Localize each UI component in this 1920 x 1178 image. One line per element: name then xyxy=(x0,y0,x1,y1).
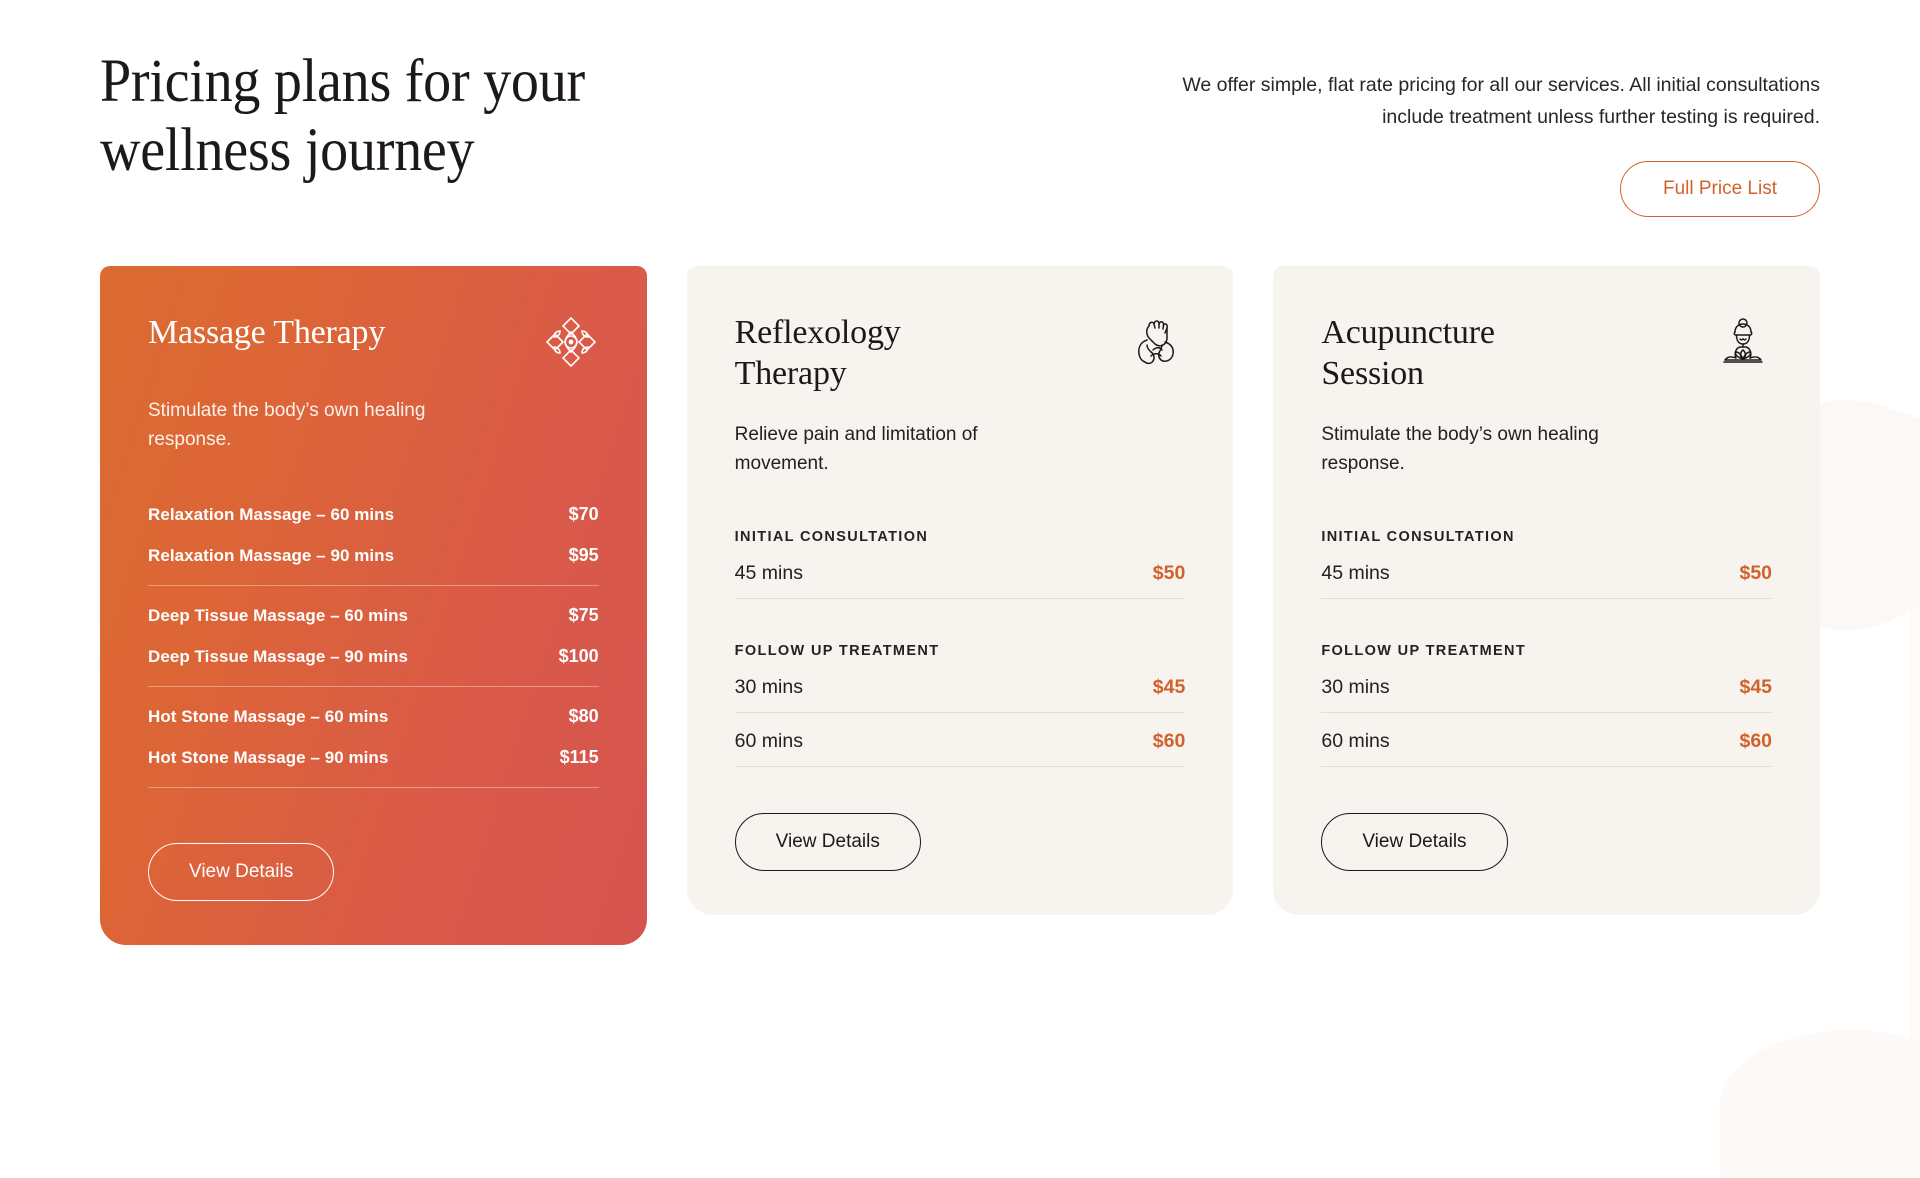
card-header: Massage Therapy xyxy=(148,312,599,370)
price-row-name: Deep Tissue Massage – 60 mins xyxy=(148,606,408,626)
pricing-card-reflexology-therapy[interactable]: Reflexology Therapy xyxy=(687,266,1234,915)
card-description: Relieve pain and limitation of movement. xyxy=(735,421,1025,479)
price-list: Relaxation Massage – 60 mins $70 Relaxat… xyxy=(148,494,599,797)
price-row: Relaxation Massage – 90 mins $95 xyxy=(148,535,599,576)
price-section: INITIAL CONSULTATION 45 mins $50 xyxy=(1321,529,1772,599)
price-row: 45 mins $50 xyxy=(735,545,1186,599)
price-row: Deep Tissue Massage – 60 mins $75 xyxy=(148,595,599,636)
card-cta-wrapper: View Details xyxy=(148,797,599,901)
section-label: INITIAL CONSULTATION xyxy=(1321,529,1772,545)
view-details-button[interactable]: View Details xyxy=(735,813,921,871)
price-section: INITIAL CONSULTATION 45 mins $50 xyxy=(735,529,1186,599)
price-row: Deep Tissue Massage – 90 mins $100 xyxy=(148,636,599,677)
price-row: Hot Stone Massage – 60 mins $80 xyxy=(148,696,599,737)
meditating-person-lotus-icon xyxy=(1714,314,1772,372)
card-title: Reflexology Therapy xyxy=(735,312,975,394)
price-row-value: $60 xyxy=(1739,730,1772,753)
price-row-value: $60 xyxy=(1153,730,1186,753)
decorative-shape-arch xyxy=(1720,1030,1920,1178)
pricing-card-massage-therapy[interactable]: Massage Therapy xyxy=(100,266,647,945)
price-row-name: 60 mins xyxy=(1321,730,1389,753)
price-row-name: 60 mins xyxy=(735,730,803,753)
price-sections: INITIAL CONSULTATION 45 mins $50 FOLLOW … xyxy=(735,529,1186,767)
page-title-line-2: wellness journey xyxy=(100,117,474,184)
price-row-name: 30 mins xyxy=(735,676,803,699)
price-row-value: $75 xyxy=(569,605,599,626)
price-row-value: $70 xyxy=(569,504,599,525)
card-header: Reflexology Therapy xyxy=(735,312,1186,394)
price-row: Relaxation Massage – 60 mins $70 xyxy=(148,494,599,535)
header-right-block: We offer simple, flat rate pricing for a… xyxy=(1120,48,1820,217)
price-row-name: 30 mins xyxy=(1321,676,1389,699)
price-row: 60 mins $60 xyxy=(735,713,1186,767)
card-description: Stimulate the body’s own healing respons… xyxy=(148,397,438,455)
view-details-button[interactable]: View Details xyxy=(1321,813,1507,871)
price-row-value: $50 xyxy=(1739,562,1772,585)
lotus-mandala-icon xyxy=(543,314,599,370)
price-row-name: Deep Tissue Massage – 90 mins xyxy=(148,647,408,667)
page-title: Pricing plans for your wellness journey xyxy=(100,48,585,186)
pricing-card-acupuncture-session[interactable]: Acupuncture Session xyxy=(1273,266,1820,915)
price-row-value: $115 xyxy=(560,747,599,768)
pricing-page: Pricing plans for your wellness journey … xyxy=(0,0,1920,1178)
price-row-name: Hot Stone Massage – 90 mins xyxy=(148,748,388,768)
price-row: 30 mins $45 xyxy=(735,659,1186,713)
card-title: Massage Therapy xyxy=(148,312,385,353)
section-label: FOLLOW UP TREATMENT xyxy=(1321,643,1772,659)
price-row: 45 mins $50 xyxy=(1321,545,1772,599)
section-label: INITIAL CONSULTATION xyxy=(735,529,1186,545)
divider xyxy=(148,585,599,586)
card-description: Stimulate the body’s own healing respons… xyxy=(1321,421,1611,479)
card-cta-wrapper: View Details xyxy=(1321,767,1772,871)
price-row-value: $95 xyxy=(569,545,599,566)
card-title: Acupuncture Session xyxy=(1321,312,1561,394)
price-row: 60 mins $60 xyxy=(1321,713,1772,767)
section-label: FOLLOW UP TREATMENT xyxy=(735,643,1186,659)
page-header: Pricing plans for your wellness journey … xyxy=(0,0,1920,217)
card-cta-wrapper: View Details xyxy=(735,767,1186,871)
price-row-value: $45 xyxy=(1739,676,1772,699)
full-price-list-button[interactable]: Full Price List xyxy=(1620,161,1820,217)
price-section: FOLLOW UP TREATMENT 30 mins $45 60 mins … xyxy=(1321,643,1772,767)
intro-text: We offer simple, flat rate pricing for a… xyxy=(1120,70,1820,133)
hands-massaging-foot-icon xyxy=(1127,314,1185,372)
price-row-name: Relaxation Massage – 60 mins xyxy=(148,505,394,525)
price-section: FOLLOW UP TREATMENT 30 mins $45 60 mins … xyxy=(735,643,1186,767)
price-row: Hot Stone Massage – 90 mins $115 xyxy=(148,737,599,778)
price-row: 30 mins $45 xyxy=(1321,659,1772,713)
view-details-button[interactable]: View Details xyxy=(148,843,334,901)
price-group: Deep Tissue Massage – 60 mins $75 Deep T… xyxy=(148,595,599,677)
price-row-value: $45 xyxy=(1153,676,1186,699)
price-sections: INITIAL CONSULTATION 45 mins $50 FOLLOW … xyxy=(1321,529,1772,767)
price-row-name: 45 mins xyxy=(735,562,803,585)
price-row-name: Relaxation Massage – 90 mins xyxy=(148,546,394,566)
card-header: Acupuncture Session xyxy=(1321,312,1772,394)
price-row-name: Hot Stone Massage – 60 mins xyxy=(148,707,388,727)
price-row-value: $80 xyxy=(569,706,599,727)
page-title-line-1: Pricing plans for your xyxy=(100,48,585,115)
price-group: Relaxation Massage – 60 mins $70 Relaxat… xyxy=(148,494,599,576)
divider xyxy=(148,787,599,788)
divider xyxy=(148,686,599,687)
price-row-name: 45 mins xyxy=(1321,562,1389,585)
pricing-cards: Massage Therapy xyxy=(0,266,1920,945)
price-row-value: $100 xyxy=(559,646,599,667)
price-group: Hot Stone Massage – 60 mins $80 Hot Ston… xyxy=(148,696,599,778)
price-row-value: $50 xyxy=(1153,562,1186,585)
